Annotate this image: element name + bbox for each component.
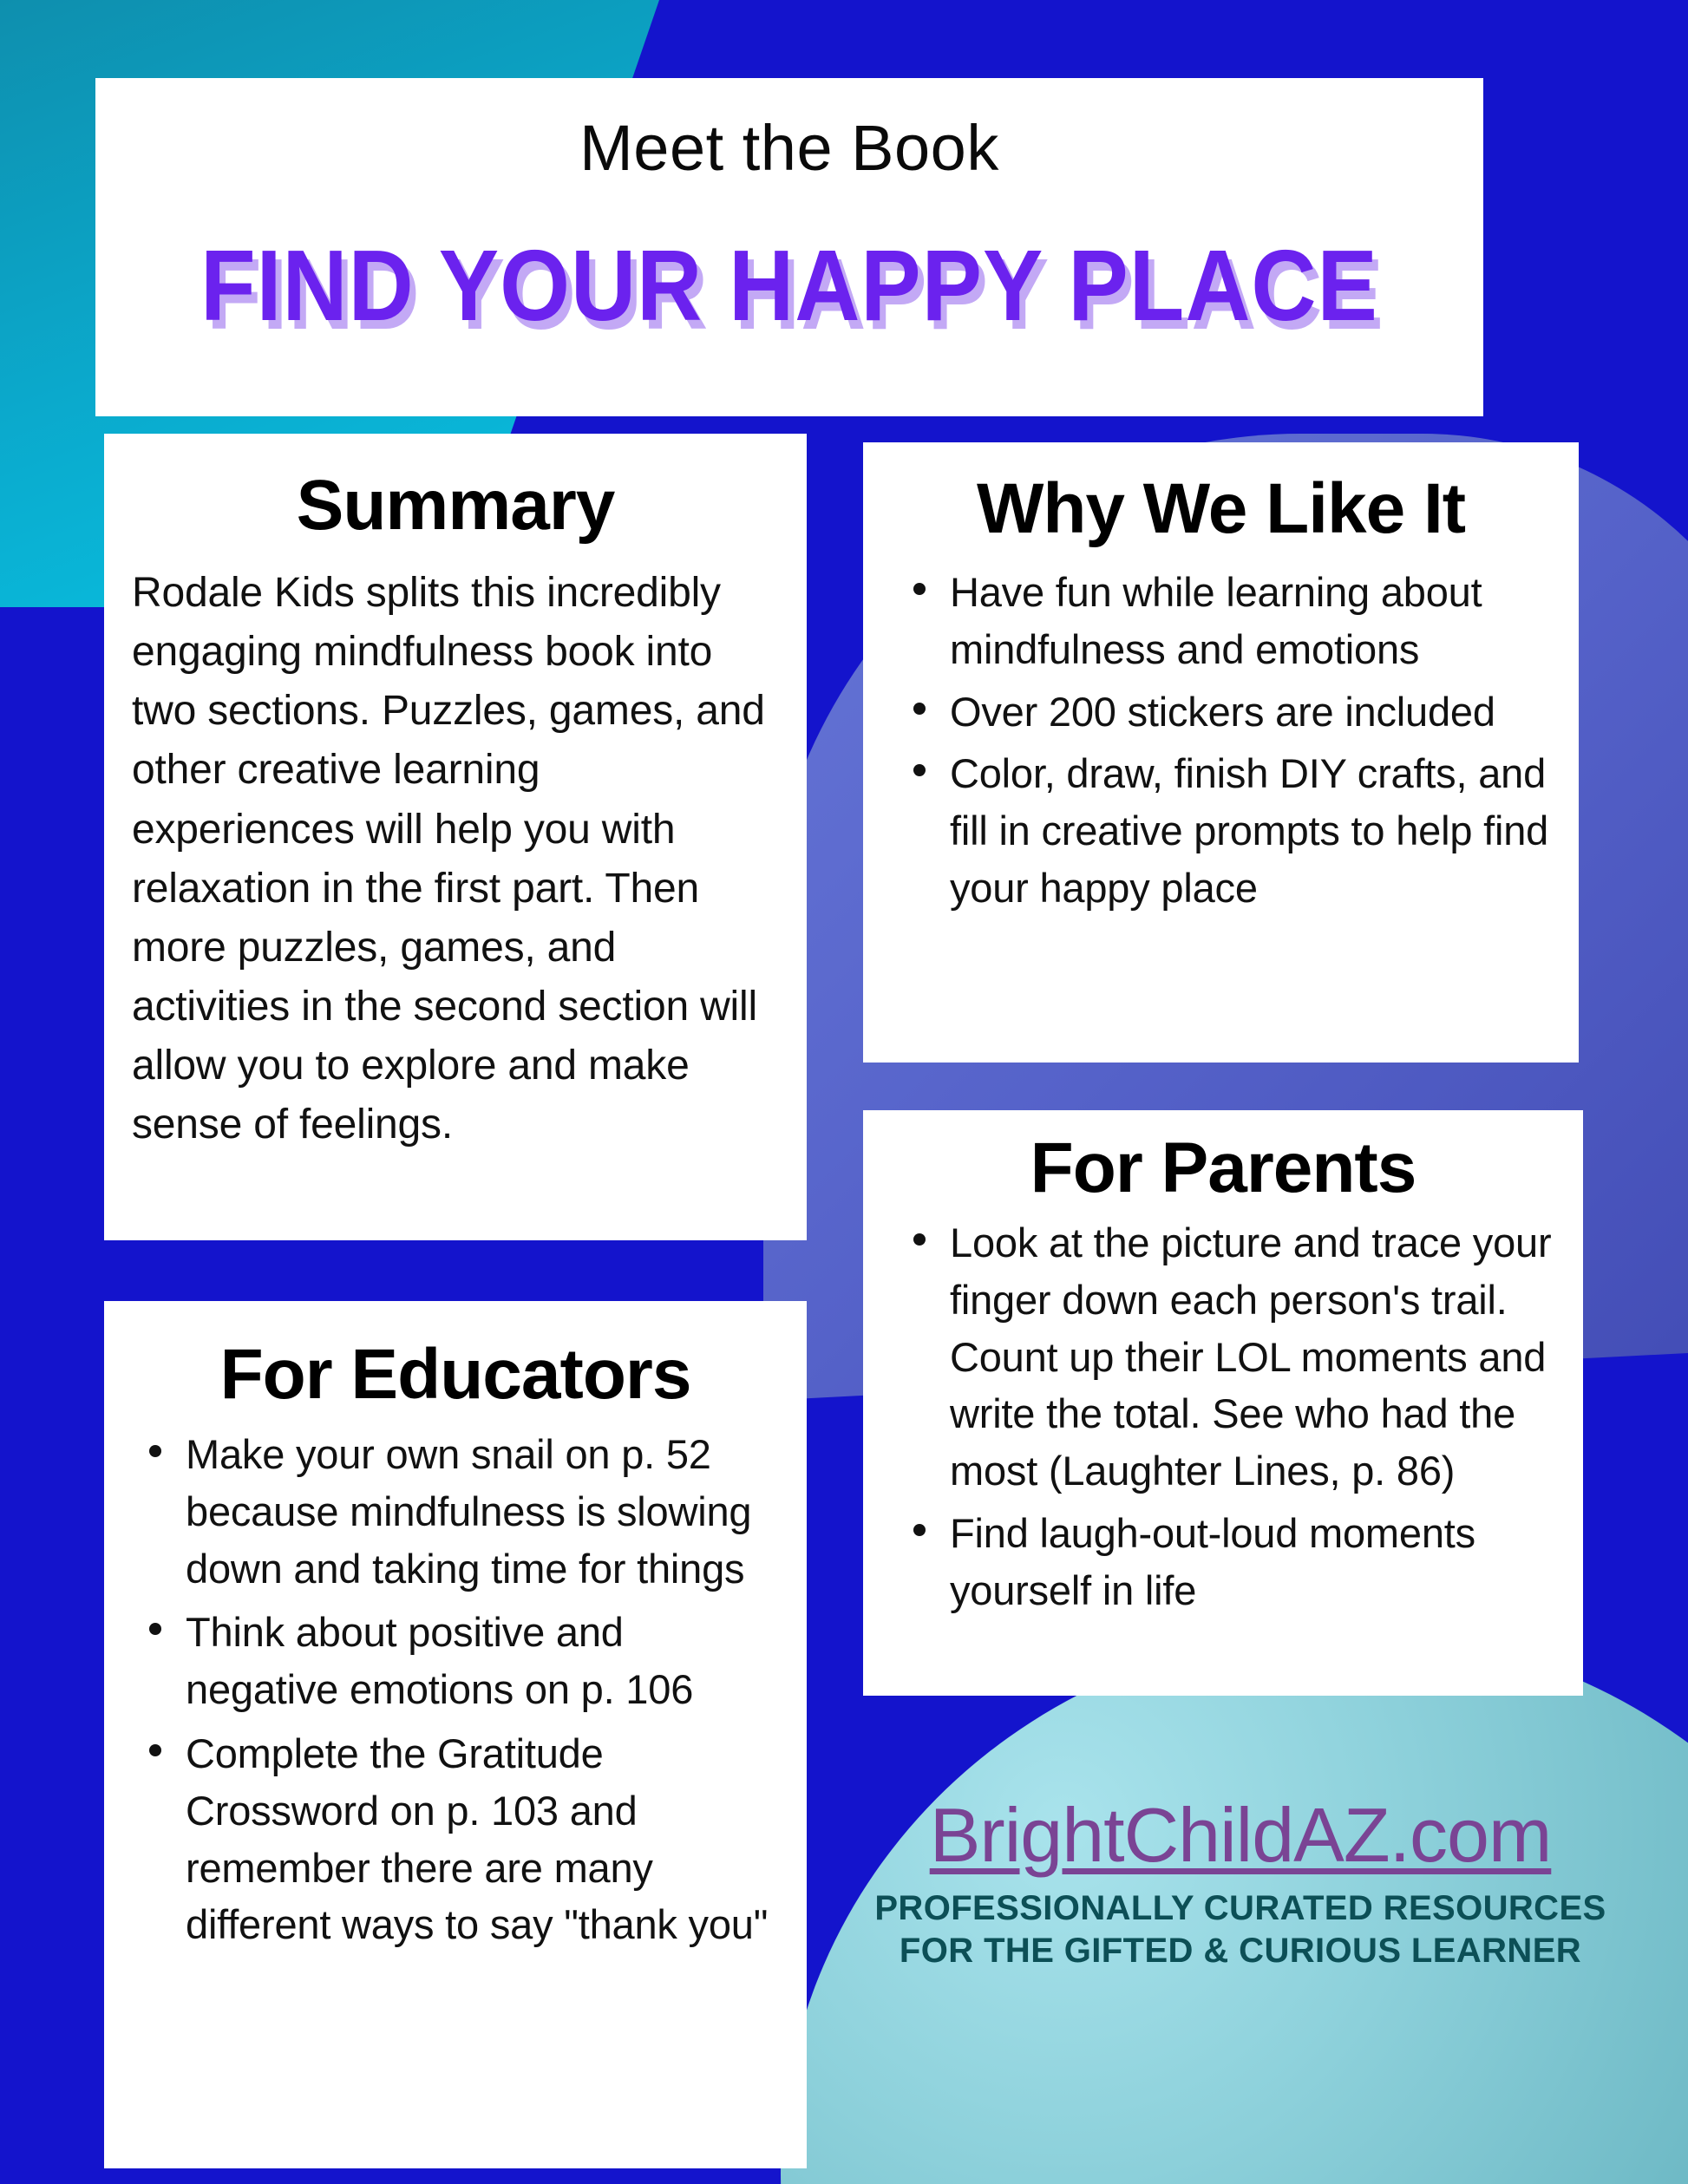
- list-item: Find laugh-out-loud moments yourself in …: [912, 1505, 1557, 1619]
- list-item: Color, draw, finish DIY crafts, and fill…: [912, 745, 1549, 916]
- list-item: Complete the Gratitude Crossword on p. 1…: [147, 1725, 781, 1953]
- tagline-line-2: FOR THE GIFTED & CURIOUS LEARNER: [833, 1930, 1648, 1972]
- summary-body-text: Rodale Kids splits this incredibly engag…: [104, 541, 807, 1155]
- for-parents-heading: For Parents: [863, 1110, 1583, 1204]
- summary-heading: Summary: [104, 434, 807, 541]
- site-url-link[interactable]: BrightChildAZ.com: [833, 1795, 1648, 1875]
- poster-root: Meet the Book FIND YOUR HAPPY PLACE Summ…: [0, 0, 1688, 2184]
- for-educators-card: For Educators Make your own snail on p. …: [104, 1301, 807, 2168]
- why-we-like-it-heading: Why We Like It: [863, 442, 1579, 545]
- list-item: Look at the picture and trace your finge…: [912, 1214, 1557, 1500]
- for-educators-bullet-list: Make your own snail on p. 52 because min…: [104, 1410, 807, 1953]
- list-item: Think about positive and negative emotio…: [147, 1604, 781, 1718]
- why-we-like-it-card: Why We Like It Have fun while learning a…: [863, 442, 1579, 1063]
- footer-logo-block: BrightChildAZ.com PROFESSIONALLY CURATED…: [833, 1795, 1648, 1972]
- summary-card: Summary Rodale Kids splits this incredib…: [104, 434, 807, 1240]
- header-card: Meet the Book FIND YOUR HAPPY PLACE: [95, 78, 1483, 416]
- list-item: Make your own snail on p. 52 because min…: [147, 1426, 781, 1597]
- book-title: FIND YOUR HAPPY PLACE: [95, 182, 1483, 344]
- list-item: Have fun while learning about mindfulnes…: [912, 564, 1549, 678]
- for-parents-bullet-list: Look at the picture and trace your finge…: [863, 1204, 1583, 1619]
- for-educators-heading: For Educators: [104, 1301, 807, 1410]
- why-we-like-it-bullet-list: Have fun while learning about mindfulnes…: [863, 545, 1579, 917]
- eyebrow-title: Meet the Book: [95, 78, 1483, 182]
- tagline-line-1: PROFESSIONALLY CURATED RESOURCES: [833, 1887, 1648, 1930]
- list-item: Over 200 stickers are included: [912, 683, 1549, 741]
- for-parents-card: For Parents Look at the picture and trac…: [863, 1110, 1583, 1696]
